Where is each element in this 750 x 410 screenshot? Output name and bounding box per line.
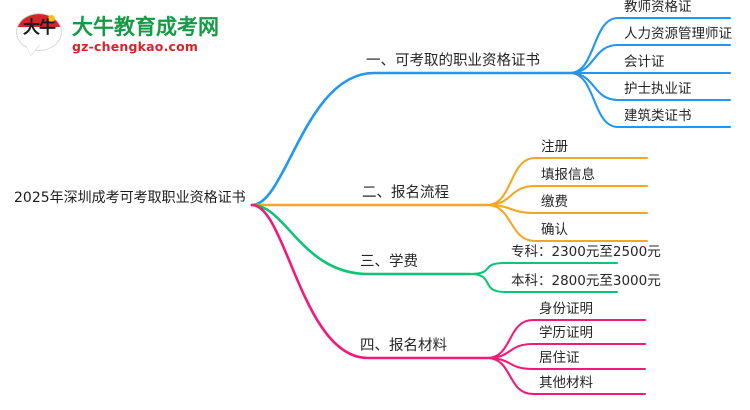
mindmap-leaf-node-2-1[interactable]: 注册 [541, 135, 568, 158]
mindmap-branch-node-2[interactable]: 二、报名流程 [362, 181, 449, 205]
mindmap-root-node[interactable]: 2025年深圳成考可考取职业资格证书 [14, 187, 246, 210]
mindmap-leaf-node-2-3[interactable]: 缴费 [541, 190, 568, 213]
mindmap-leaf-node-4-1[interactable]: 身份证明 [539, 297, 593, 320]
mindmap-leaf-node-4-2[interactable]: 学历证明 [539, 321, 593, 344]
mindmap-leaf-node-4-3[interactable]: 居住证 [539, 346, 580, 369]
mindmap-leaf-node-1-4[interactable]: 护士执业证 [624, 77, 692, 100]
mindmap-leaf-node-2-2[interactable]: 填报信息 [541, 163, 595, 186]
mindmap-leaf-node-1-1[interactable]: 教师资格证 [624, 0, 692, 18]
mindmap-branch-node-1[interactable]: 一、可考取的职业资格证书 [366, 49, 540, 73]
mindmap-leaf-node-1-2[interactable]: 人力资源管理师证 [624, 22, 732, 45]
mindmap-leaf-node-4-4[interactable]: 其他材料 [539, 371, 593, 394]
mindmap-leaf-node-2-4[interactable]: 确认 [541, 218, 568, 241]
mindmap-branch-node-3[interactable]: 三、学费 [360, 250, 418, 274]
mindmap-leaf-node-3-2[interactable]: 本科：2800元至3000元 [511, 269, 661, 292]
mindmap-leaf-node-1-3[interactable]: 会计证 [624, 50, 665, 73]
mindmap-branch-node-4[interactable]: 四、报名材料 [360, 334, 447, 358]
mindmap-leaf-node-3-1[interactable]: 专科：2300元至2500元 [511, 240, 661, 263]
mindmap-canvas: 2025年深圳成考可考取职业资格证书一、可考取的职业资格证书教师资格证人力资源管… [0, 0, 750, 410]
mindmap-leaf-node-1-5[interactable]: 建筑类证书 [624, 104, 692, 127]
